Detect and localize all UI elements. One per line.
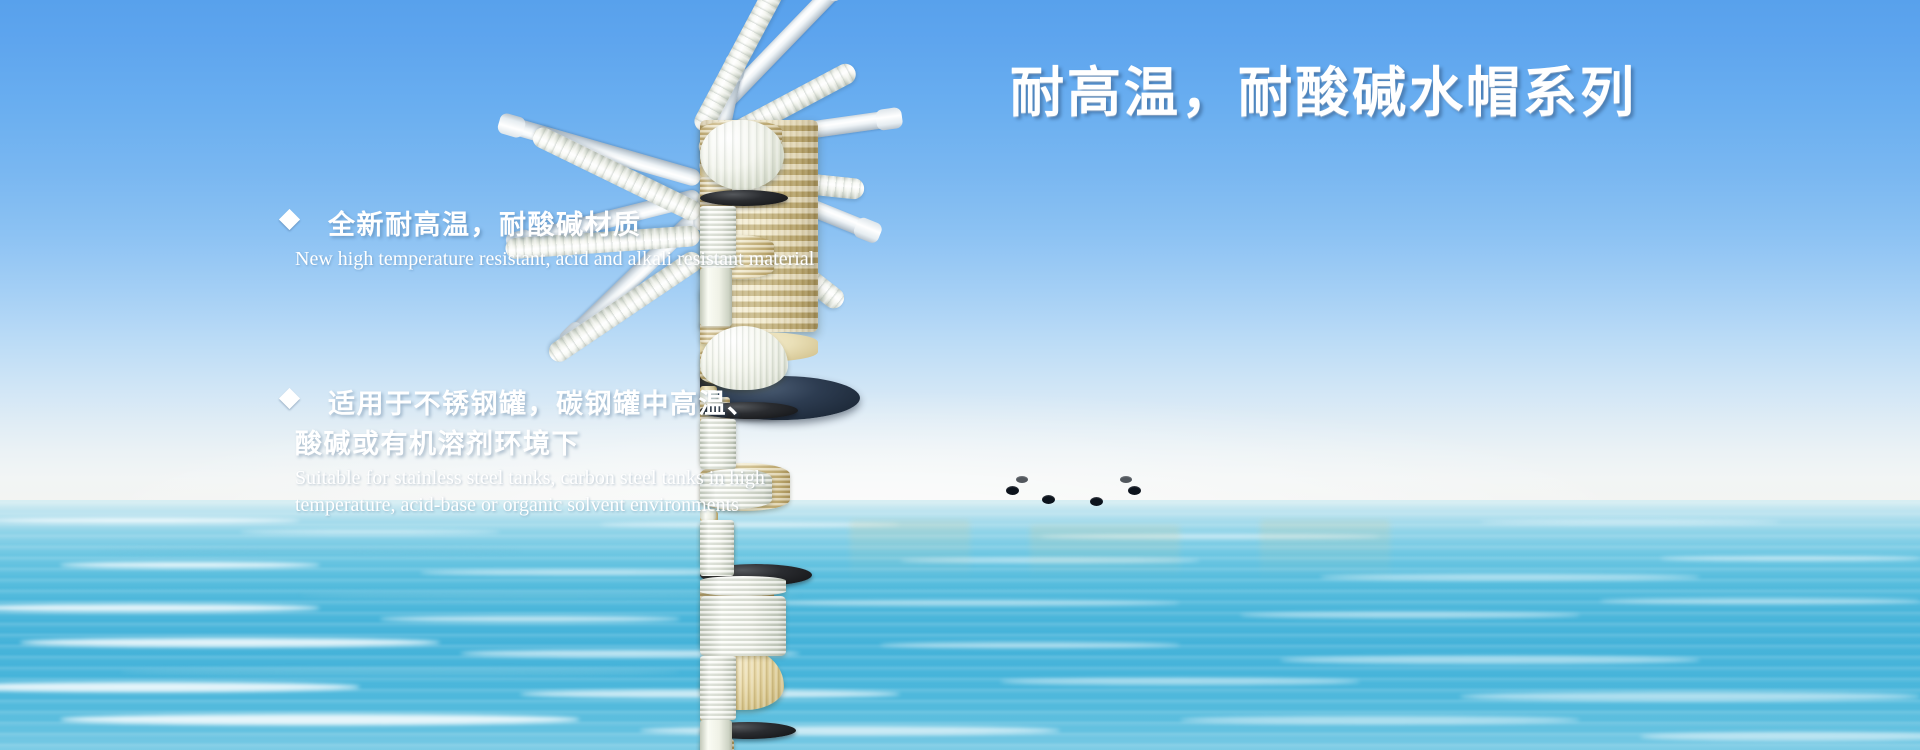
feature-2-text-en-line-2: temperature, acid-base or organic solven… bbox=[295, 493, 1042, 518]
feature-1-text-en-line-1: New high temperature resistant, acid and… bbox=[295, 247, 1042, 272]
diamond-bullet-icon bbox=[279, 388, 300, 409]
feature-1-heading-zh: 全新耐高温，耐酸碱材质 bbox=[328, 205, 1042, 245]
diamond-bullet-icon bbox=[279, 209, 300, 230]
feature-2-text-en-line-1: Suitable for stainless steel tanks, carb… bbox=[295, 466, 1042, 491]
product-banner: 耐高温，耐酸碱水帽系列 全新耐高温，耐酸碱材质 New high tempera… bbox=[0, 0, 1920, 750]
page-title: 耐高温，耐酸碱水帽系列 bbox=[1010, 62, 1630, 124]
feature-list: 全新耐高温，耐酸碱材质 New high temperature resista… bbox=[282, 205, 1042, 518]
nozzle-disc-filter-white bbox=[700, 576, 798, 750]
feature-2-heading-zh-line-1: 适用于不锈钢罐，碳钢罐中高温、 bbox=[328, 384, 1042, 424]
feature-2-heading-zh-line-2: 酸碱或有机溶剂环境下 bbox=[295, 424, 1042, 464]
feature-item-2: 适用于不锈钢罐，碳钢罐中高温、 酸碱或有机溶剂环境下 Suitable for … bbox=[282, 384, 1042, 518]
feature-item-1: 全新耐高温，耐酸碱材质 New high temperature resista… bbox=[282, 205, 1042, 272]
